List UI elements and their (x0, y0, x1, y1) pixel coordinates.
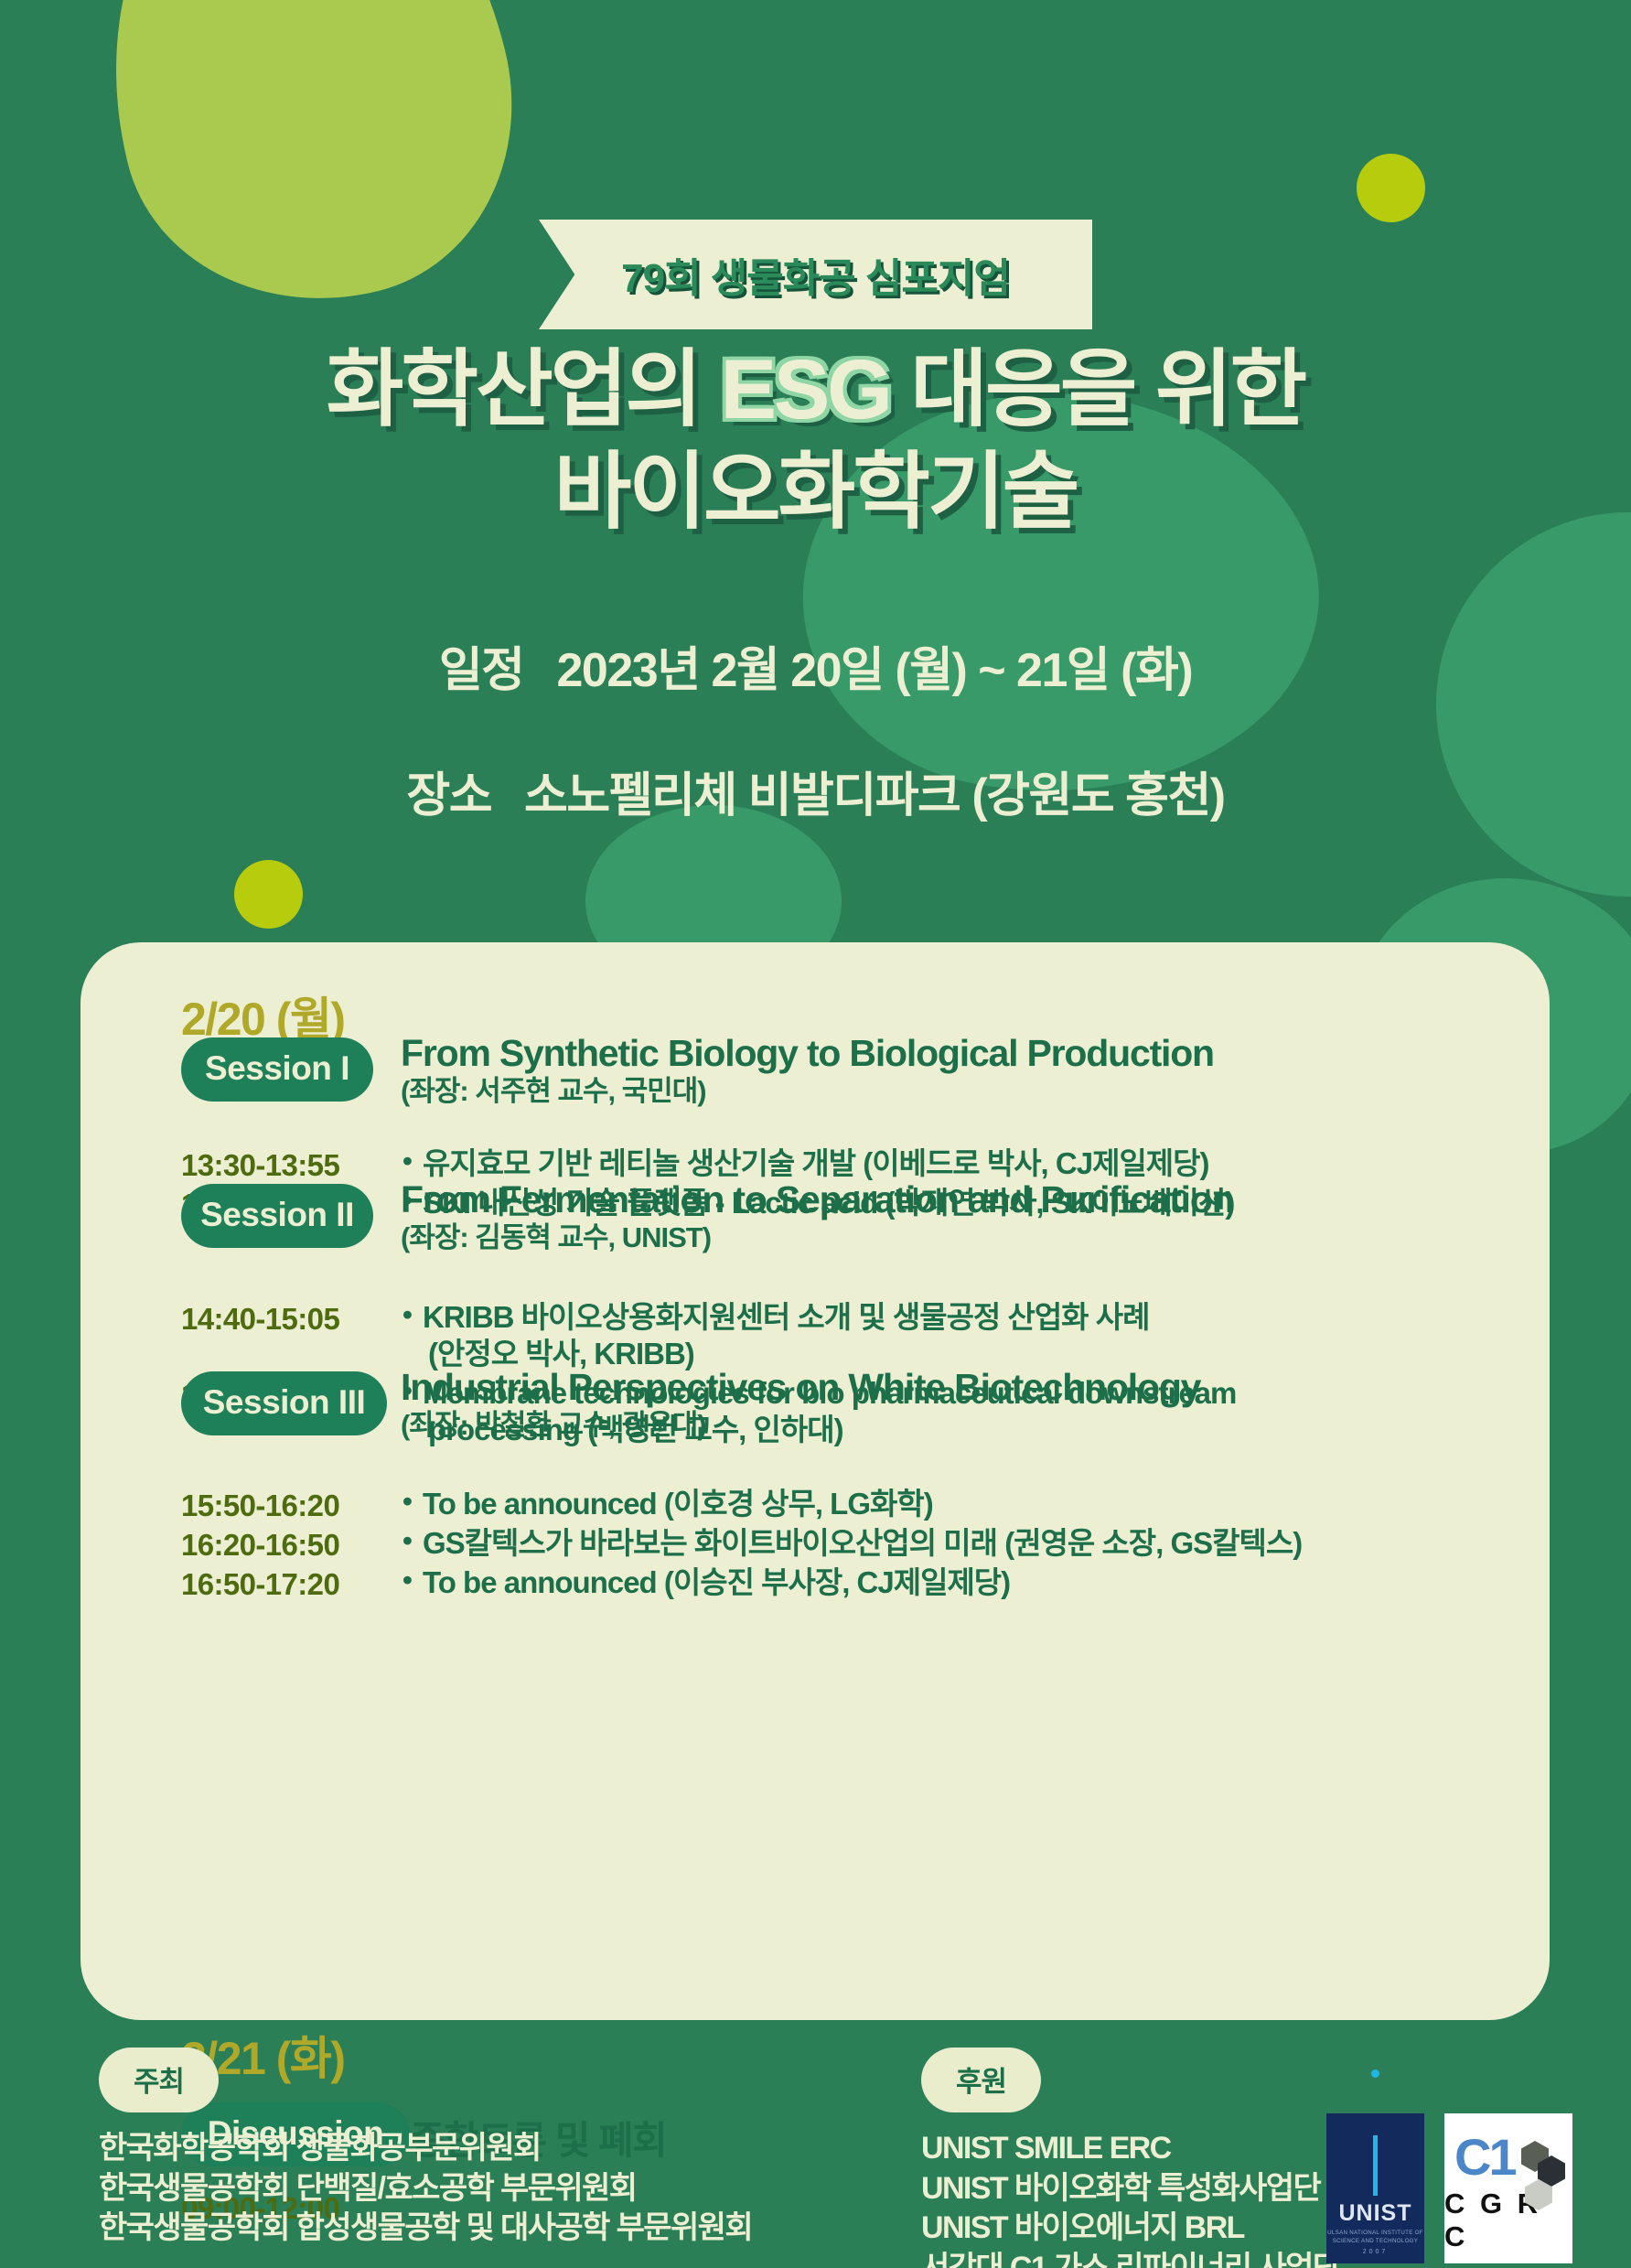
talk-time: 15:50-16:20 (181, 1486, 401, 1523)
talk-time: 16:20-16:50 (181, 1525, 401, 1563)
unist-wordmark: UNIST (1339, 2202, 1412, 2225)
title-line1-post: 대응을 위한 (890, 343, 1304, 436)
session-badge: Session II (181, 1184, 373, 1248)
accent-dot-top-right (1357, 154, 1425, 222)
ribbon-shape: 79회 생물화공 심포지엄 (539, 220, 1092, 329)
talk-description: To be announced (이승진 부사장, CJ제일제당) (401, 1564, 1010, 1601)
schedule-card: 2/20 (월) 2/21 (화) Session IFrom Syntheti… (80, 942, 1550, 2020)
org-line: 한국생물공학회 합성생물공학 및 대사공학 부문위원회 (99, 2209, 752, 2249)
ribbon-banner: 79회 생물화공 심포지엄 (0, 220, 1631, 329)
talk-time: 14:40-15:05 (181, 1299, 401, 1337)
c1-mark: C1 (1454, 2133, 1515, 2181)
session-title: From Synthetic Biology to Biological Pro… (401, 1034, 1513, 1107)
session-title: Industrial Perspectives on White Biotech… (401, 1368, 1513, 1441)
sponsor-column: 후원 UNIST SMILE ERCUNIST 바이오화학 특성화사업단UNIS… (921, 2048, 1340, 2268)
sponsor-pill: 후원 (921, 2048, 1041, 2112)
org-line: 한국화학공학회 생물화공부문위원회 (99, 2129, 752, 2169)
org-line: 한국생물공학회 단백질/효소공학 부문위원회 (99, 2169, 752, 2209)
venue-label: 장소 (406, 769, 491, 822)
title-esg-highlight: ESG (721, 343, 890, 436)
session-chair: (좌장: 박철환 교수, 광운대) (401, 1411, 1513, 1441)
unist-star-icon (1371, 2069, 1379, 2078)
title-line1-pre: 화학산업의 (327, 343, 721, 436)
session-title: From Fermentation to Separation and Puri… (401, 1180, 1513, 1253)
talk-row: 16:20-16:50GS칼텍스가 바라보는 화이트바이오산업의 미래 (권영운… (181, 1525, 1513, 1563)
event-info: 일정2023년 2월 20일 (월) ~ 21일 (화) 장소소노펠리체 비발디… (0, 631, 1631, 825)
ribbon-label: 79회 생물화공 심포지엄 (621, 245, 1010, 304)
title-line-1: 화학산업의 ESG 대응을 위한 (0, 339, 1631, 441)
accent-dot-left (234, 860, 303, 929)
host-column: 주최 한국화학공학회 생물화공부문위원회한국생물공학회 단백질/효소공학 부문위… (99, 2048, 752, 2249)
cgrc-logo: C1 C G R C (1444, 2113, 1572, 2263)
symposium-poster: 79회 생물화공 심포지엄 화학산업의 ESG 대응을 위한 바이오화학기술 일… (0, 0, 1631, 2268)
date-label: 일정 (439, 644, 524, 697)
host-organizations: 한국화학공학회 생물화공부문위원회한국생물공학회 단백질/효소공학 부문위원회한… (99, 2129, 752, 2249)
venue-value: 소노펠리체 비발디파크 (강원도 홍천) (524, 769, 1225, 822)
talk-row: 15:50-16:20To be announced (이호경 상무, LG화학… (181, 1486, 1513, 1523)
page-title: 화학산업의 ESG 대응을 위한 바이오화학기술 (0, 339, 1631, 543)
org-line: UNIST SMILE ERC (921, 2129, 1340, 2169)
session-title-text: Industrial Perspectives on White Biotech… (401, 1368, 1513, 1407)
session-badge: Session I (181, 1037, 373, 1102)
talk-description: To be announced (이호경 상무, LG화학) (401, 1486, 933, 1522)
talk-description: 유지효모 기반 레티놀 생산기술 개발 (이베드로 박사, CJ제일제당) (401, 1145, 1209, 1182)
org-line: 서강대 C1 가스 리파이너리 사업단 (921, 2249, 1340, 2268)
session-title-text: From Fermentation to Separation and Puri… (401, 1180, 1513, 1220)
unist-bar-icon (1373, 2135, 1378, 2196)
title-line-2: 바이오화학기술 (0, 441, 1631, 543)
session-chair: (좌장: 서주현 교수, 국민대) (401, 1077, 1513, 1107)
unist-subtitle: ULSAN NATIONAL INSTITUTE OF SCIENCE AND … (1326, 2230, 1424, 2245)
org-line: UNIST 바이오에너지 BRL (921, 2209, 1340, 2249)
talk-row: 14:40-15:05KRIBB 바이오상용화지원센터 소개 및 생물공정 산업… (181, 1299, 1513, 1373)
poster-footer: 주최 한국화학공학회 생물화공부문위원회한국생물공학회 단백질/효소공학 부문위… (0, 2048, 1631, 2268)
session-title-text: From Synthetic Biology to Biological Pro… (401, 1034, 1513, 1073)
host-pill: 주최 (99, 2048, 219, 2112)
venue-row: 장소소노펠리체 비발디파크 (강원도 홍천) (0, 757, 1631, 825)
date-row: 일정2023년 2월 20일 (월) ~ 21일 (화) (0, 631, 1631, 700)
session-chair: (좌장: 김동혁 교수, UNIST) (401, 1223, 1513, 1253)
talk-time: 16:50-17:20 (181, 1564, 401, 1602)
session-badge: Session III (181, 1371, 387, 1435)
cgrc-text: C G R C (1444, 2187, 1572, 2253)
talk-description: KRIBB 바이오상용화지원센터 소개 및 생물공정 산업화 사례(안정오 박사… (401, 1299, 1149, 1373)
talk-description: GS칼텍스가 바라보는 화이트바이오산업의 미래 (권영운 소장, GS칼텍스) (401, 1525, 1302, 1562)
sponsor-organizations: UNIST SMILE ERCUNIST 바이오화학 특성화사업단UNIST 바… (921, 2129, 1340, 2268)
date-value: 2023년 2월 20일 (월) ~ 21일 (화) (557, 644, 1193, 697)
talk-list: 15:50-16:20To be announced (이호경 상무, LG화학… (181, 1486, 1513, 1604)
talk-row: 16:50-17:20To be announced (이승진 부사장, CJ제… (181, 1564, 1513, 1602)
talk-row: 13:30-13:55유지효모 기반 레티놀 생산기술 개발 (이베드로 박사,… (181, 1145, 1513, 1183)
org-line: UNIST 바이오화학 특성화사업단 (921, 2169, 1340, 2209)
unist-year: 2007 (1363, 2249, 1389, 2255)
logo-strip: UNIST ULSAN NATIONAL INSTITUTE OF SCIENC… (1326, 2113, 1572, 2263)
talk-time: 13:30-13:55 (181, 1145, 401, 1183)
unist-logo: UNIST ULSAN NATIONAL INSTITUTE OF SCIENC… (1326, 2113, 1424, 2263)
